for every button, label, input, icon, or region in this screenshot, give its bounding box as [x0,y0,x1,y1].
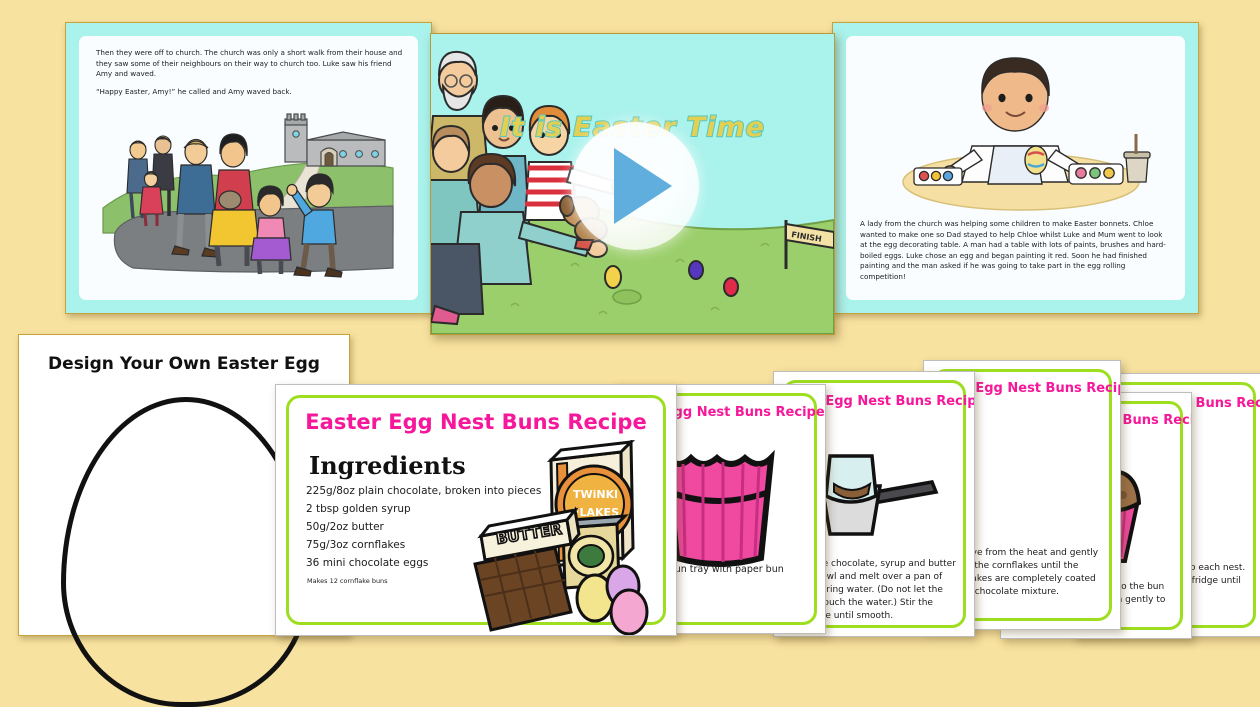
egg-outline-shape [61,397,311,707]
story-slide-egg-decorating-text: A lady from the church was helping some … [860,219,1171,289]
story-paragraph: A lady from the church was helping some … [860,219,1171,282]
boy-painting-easter-egg-illustration [886,42,1156,217]
recipe-title: Easter Egg Nest Buns Recipe [276,410,676,434]
recipe-yield-note: Makes 12 cornflake buns [307,577,388,585]
play-button[interactable] [571,122,699,250]
worksheet-title: Design Your Own Easter Egg [19,354,349,374]
story-slide-church[interactable]: Then they were off to church. The church… [65,22,432,314]
story-slide-church-inner: Then they were off to church. The church… [79,36,418,300]
play-triangle-icon [614,148,672,224]
easter-time-video-slide[interactable]: FINISH [430,33,835,335]
family-walking-to-church-illustration [93,98,403,283]
ingredients-heading: Ingredients [309,451,466,480]
saucepan-melting-chocolate-illustration [804,434,964,544]
story-paragraph: “Happy Easter, Amy!” he called and Amy w… [96,87,404,98]
chocolate-butter-cornflakes-eggs-illustration: TWiNKl FLAKES BUTTER [471,440,677,635]
story-slide-egg-decorating[interactable]: A lady from the church was helping some … [832,22,1199,314]
svg-text:TWiNKl: TWiNKl [573,488,618,501]
recipe-card-ingredients[interactable]: Easter Egg Nest Buns Recipe Ingredients … [275,384,677,636]
story-slide-church-text: Then they were off to church. The church… [96,48,404,104]
story-slide-egg-decorating-inner: A lady from the church was helping some … [846,36,1185,300]
story-paragraph: Then they were off to church. The church… [96,48,404,80]
resource-preview-collage: Then they were off to church. The church… [0,0,1260,630]
